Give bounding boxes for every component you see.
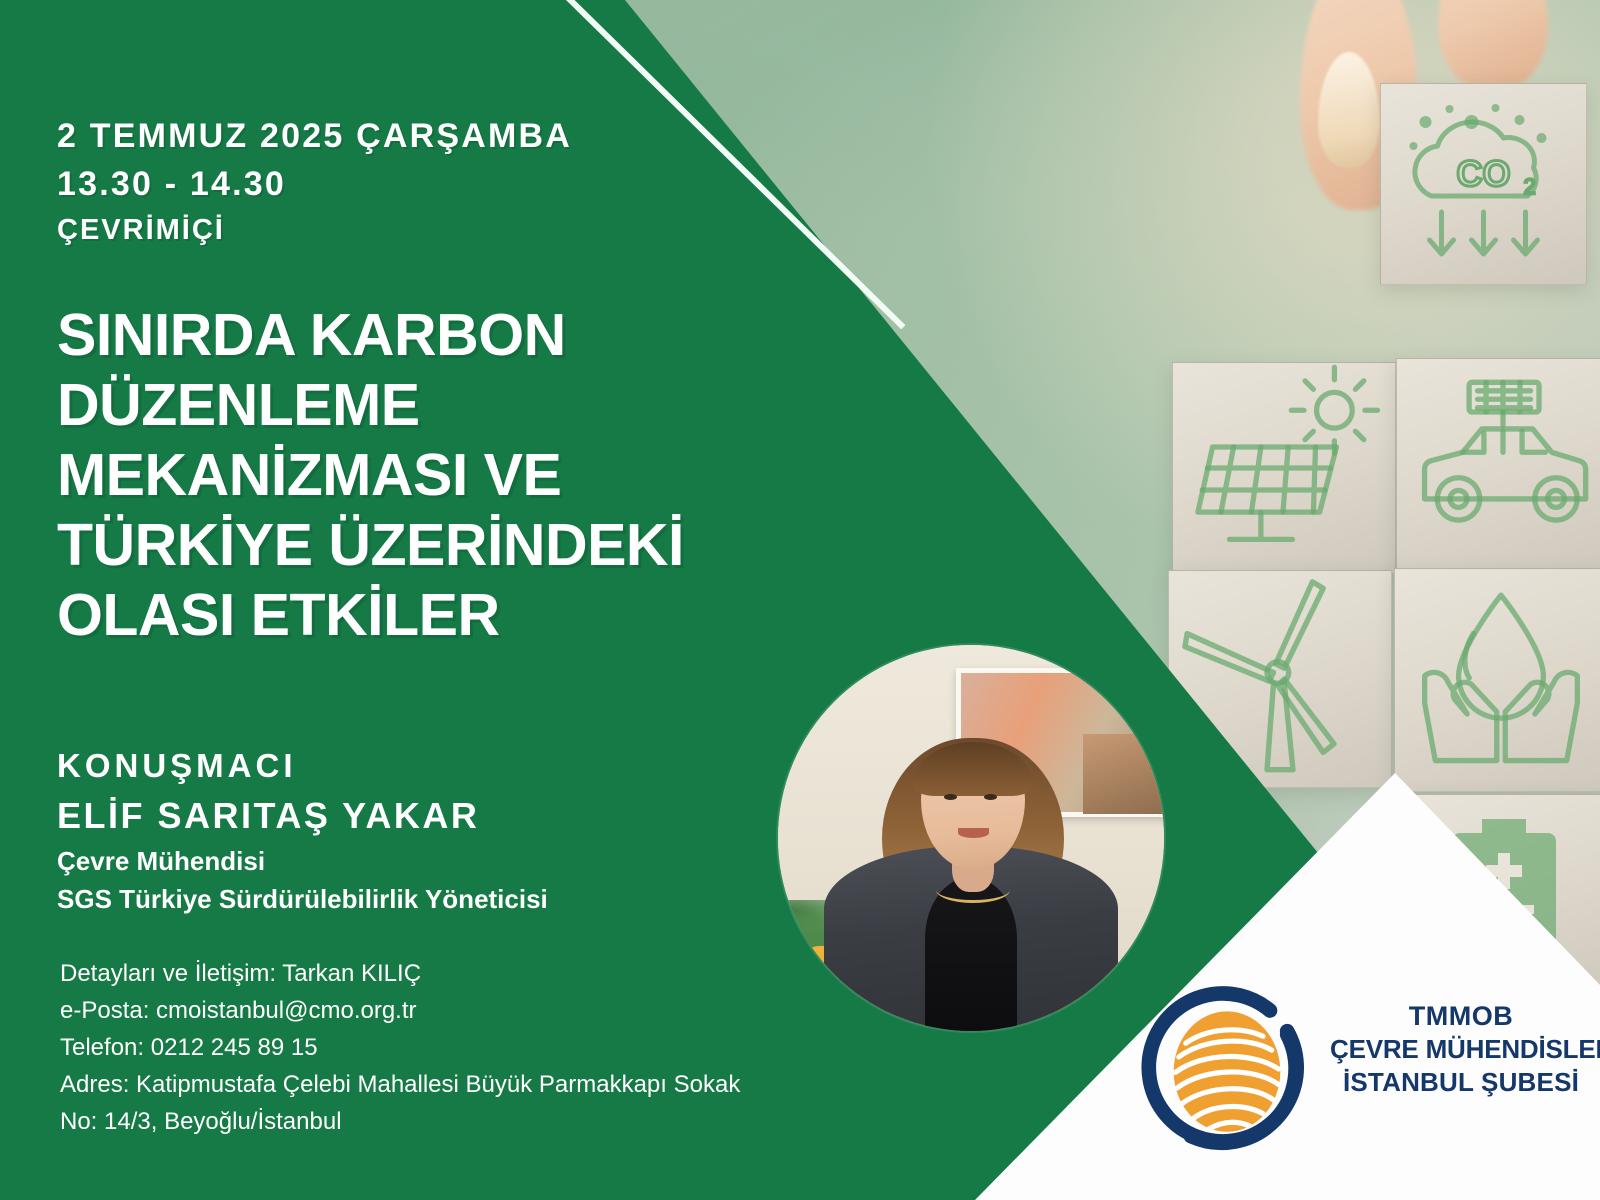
- event-poster: CO 2: [0, 0, 1600, 1200]
- finger-second: [1438, 0, 1548, 90]
- tmmob-logo-mark: [1138, 983, 1316, 1155]
- speaker-block: KONUŞMACI ELİF SARITAŞ YAKAR Çevre Mühen…: [57, 742, 548, 918]
- title-line-3: MEKANİZMASI VE: [57, 440, 937, 510]
- event-date: 2 TEMMUZ 2025 ÇARŞAMBA: [57, 112, 572, 160]
- title-line-4: TÜRKİYE ÜZERİNDEKİ: [57, 510, 937, 580]
- avatar-eye-right: [984, 794, 997, 800]
- electric-car-block: [1396, 358, 1600, 572]
- event-time: 13.30 - 14.30: [57, 160, 572, 208]
- speaker-label: KONUŞMACI: [57, 742, 548, 790]
- title-line-2: DÜZENLEME: [57, 370, 937, 440]
- svg-text:CO: CO: [1457, 153, 1511, 194]
- contact-person: Detayları ve İletişim: Tarkan KILIÇ: [60, 955, 740, 992]
- water-drop-hands-block: [1394, 568, 1600, 792]
- event-datetime-block: 2 TEMMUZ 2025 ÇARŞAMBA 13.30 - 14.30 ÇEV…: [57, 112, 572, 252]
- event-title: SINIRDA KARBON DÜZENLEME MEKANİZMASI VE …: [57, 300, 937, 650]
- speaker-role-secondary: SGS Türkiye Sürdürülebilirlik Yöneticisi: [57, 880, 548, 918]
- svg-text:2: 2: [1524, 174, 1536, 199]
- globe-ring-icon: [1138, 983, 1316, 1155]
- contact-email[interactable]: e-Posta: cmoistanbul@cmo.org.tr: [60, 992, 740, 1029]
- solar-panel-sun-icon: [1173, 363, 1395, 573]
- avatar-eye-left: [944, 794, 957, 800]
- logo-line-tmmob: TMMOB: [1330, 1000, 1592, 1033]
- contact-address-line-1: Adres: Katipmustafa Çelebi Mahallesi Büy…: [60, 1066, 740, 1103]
- logo-line-chamber: ÇEVRE MÜHENDİSLERİ ODASI: [1330, 1033, 1592, 1066]
- electric-car-icon: [1397, 359, 1600, 571]
- title-line-5: OLASI ETKİLER: [57, 580, 937, 650]
- speaker-avatar: [778, 645, 1164, 1031]
- contact-block: Detayları ve İletişim: Tarkan KILIÇ e-Po…: [60, 955, 740, 1140]
- speaker-role-primary: Çevre Mühendisi: [57, 842, 548, 880]
- contact-address-line-2: No: 14/3, Beyoğlu/İstanbul: [60, 1103, 740, 1140]
- speaker-name: ELİF SARITAŞ YAKAR: [57, 790, 548, 842]
- event-mode: ÇEVRİMİÇİ: [57, 208, 572, 252]
- logo-line-branch: İSTANBUL ŞUBESİ: [1330, 1066, 1592, 1099]
- solar-panel-block: [1172, 362, 1396, 574]
- contact-phone[interactable]: Telefon: 0212 245 89 15: [60, 1029, 740, 1066]
- tmmob-logo-text: TMMOB ÇEVRE MÜHENDİSLERİ ODASI İSTANBUL …: [1330, 1000, 1592, 1099]
- title-line-1: SINIRDA KARBON: [57, 300, 937, 370]
- avatar-necklace: [936, 877, 1009, 903]
- co2-block: CO 2: [1380, 83, 1587, 285]
- hands-water-drop-icon: [1395, 569, 1600, 791]
- co2-cloud-icon: CO 2: [1381, 84, 1586, 284]
